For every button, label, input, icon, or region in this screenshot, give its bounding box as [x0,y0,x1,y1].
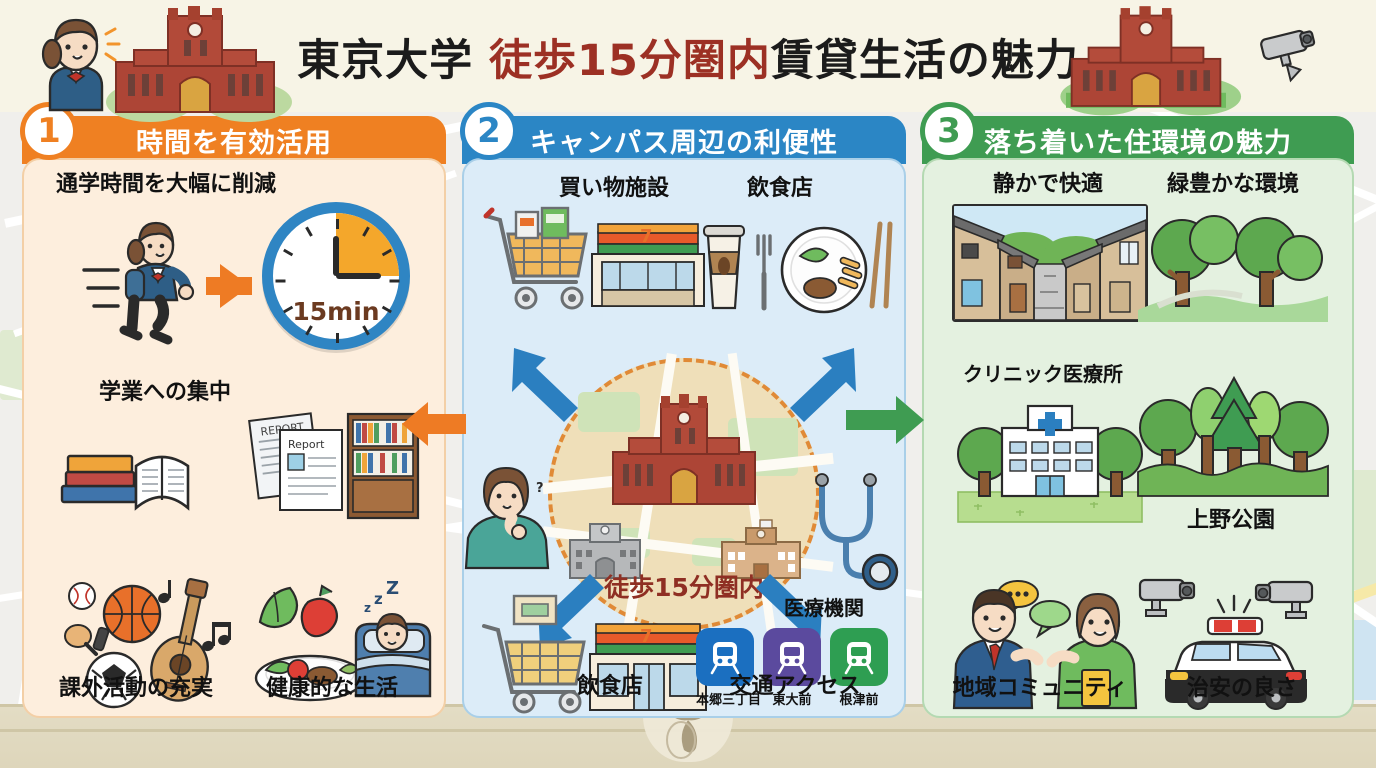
arrow-left-icon [402,398,466,450]
title-suffix: 賃貸生活の魅力 [771,36,1079,86]
restaurant-label-bottom: 飲食店 [520,668,700,700]
shopping-cart-store-icon: 7 [480,204,700,316]
safety-label: 治安の良さ [1142,670,1342,702]
svg-text:z: z [374,590,383,608]
svg-text:Z: Z [386,578,399,599]
coffee-meal-icon [692,208,898,318]
security-camera-icon [1260,24,1334,80]
park-trees-icon [1138,374,1328,496]
panel-campus-convenience[interactable]: キャンパス周辺の利便性 2 買い物施設 飲食店 [462,116,906,718]
clock-label: 15min [273,297,399,326]
extracurricular-label: 課外活動の充実 [36,670,236,702]
hospital-icon [952,392,1148,522]
yasuda-auditorium-icon [110,6,280,114]
panel-3-number-badge: 3 [920,102,978,160]
clinic-label: クリニック医療所 [938,358,1148,387]
panel-3-body: 静かで快適 緑豊かな環境 [922,158,1354,718]
panel-2-number-badge: 2 [460,102,518,160]
thinking-person-icon: ? [456,458,556,568]
restaurant-label-top: 飲食店 [700,170,860,202]
quiet-comfort-label: 静かで快適 [948,166,1148,198]
report-bookshelf-icon: REPORT Report [252,408,422,528]
quiet-street-icon [952,204,1148,322]
community-label: 地域コミュニティ [930,670,1150,702]
stethoscope-icon [808,474,900,602]
panel-time-utilization[interactable]: 時間を有効活用 1 通学時間を大幅に削減 [22,116,446,718]
medical-facility-label: 医療機関 [754,592,894,621]
clock-icon: 15min [262,202,410,350]
ueno-park-label: 上野公園 [1146,502,1316,534]
arrow-right-icon [846,392,924,448]
svg-text:z: z [364,601,371,615]
commute-time-label: 通学時間を大幅に削減 [34,166,334,198]
shopping-label: 買い物施設 [524,170,704,202]
title-highlight: 徒歩15分圏内 [489,36,771,86]
study-focus-label: 学業への集中 [50,374,280,406]
books-icon [58,422,233,532]
green-environment-label: 緑豊かな環境 [1128,166,1338,198]
panel-3-header: 落ち着いた住環境の魅力 [922,116,1354,164]
arrow-right-icon [220,264,250,308]
svg-text:?: ? [536,481,544,496]
running-student-icon [82,218,212,348]
student-character-icon [30,14,122,110]
panel-1-header: 時間を有効活用 [22,116,446,164]
svg-text:Report: Report [288,438,325,451]
panel-2-header: キャンパス周辺の利便性 [462,116,906,164]
title-prefix: 東京大学 [297,36,489,86]
healthy-life-label: 健康的な生活 [232,670,432,702]
panel-living-environment[interactable]: 落ち着いた住環境の魅力 3 静かで快適 緑豊かな環境 [922,116,1354,718]
infographic-canvas: 東京大学 徒歩15分圏内賃貸生活の魅力 [0,0,1376,768]
yasuda-auditorium-icon [1066,4,1226,110]
svg-text:7: 7 [640,226,653,247]
arrow-up-left-icon [512,346,582,426]
transport-access-label: 交通アクセス [690,668,900,700]
trees-icon [1138,200,1328,322]
svg-text:7: 7 [640,626,653,647]
convenience-store-icon: 7 [478,590,702,720]
panel-2-body: 買い物施設 飲食店 [462,158,906,718]
panel-1-body: 通学時間を大幅に削減 [22,158,446,718]
